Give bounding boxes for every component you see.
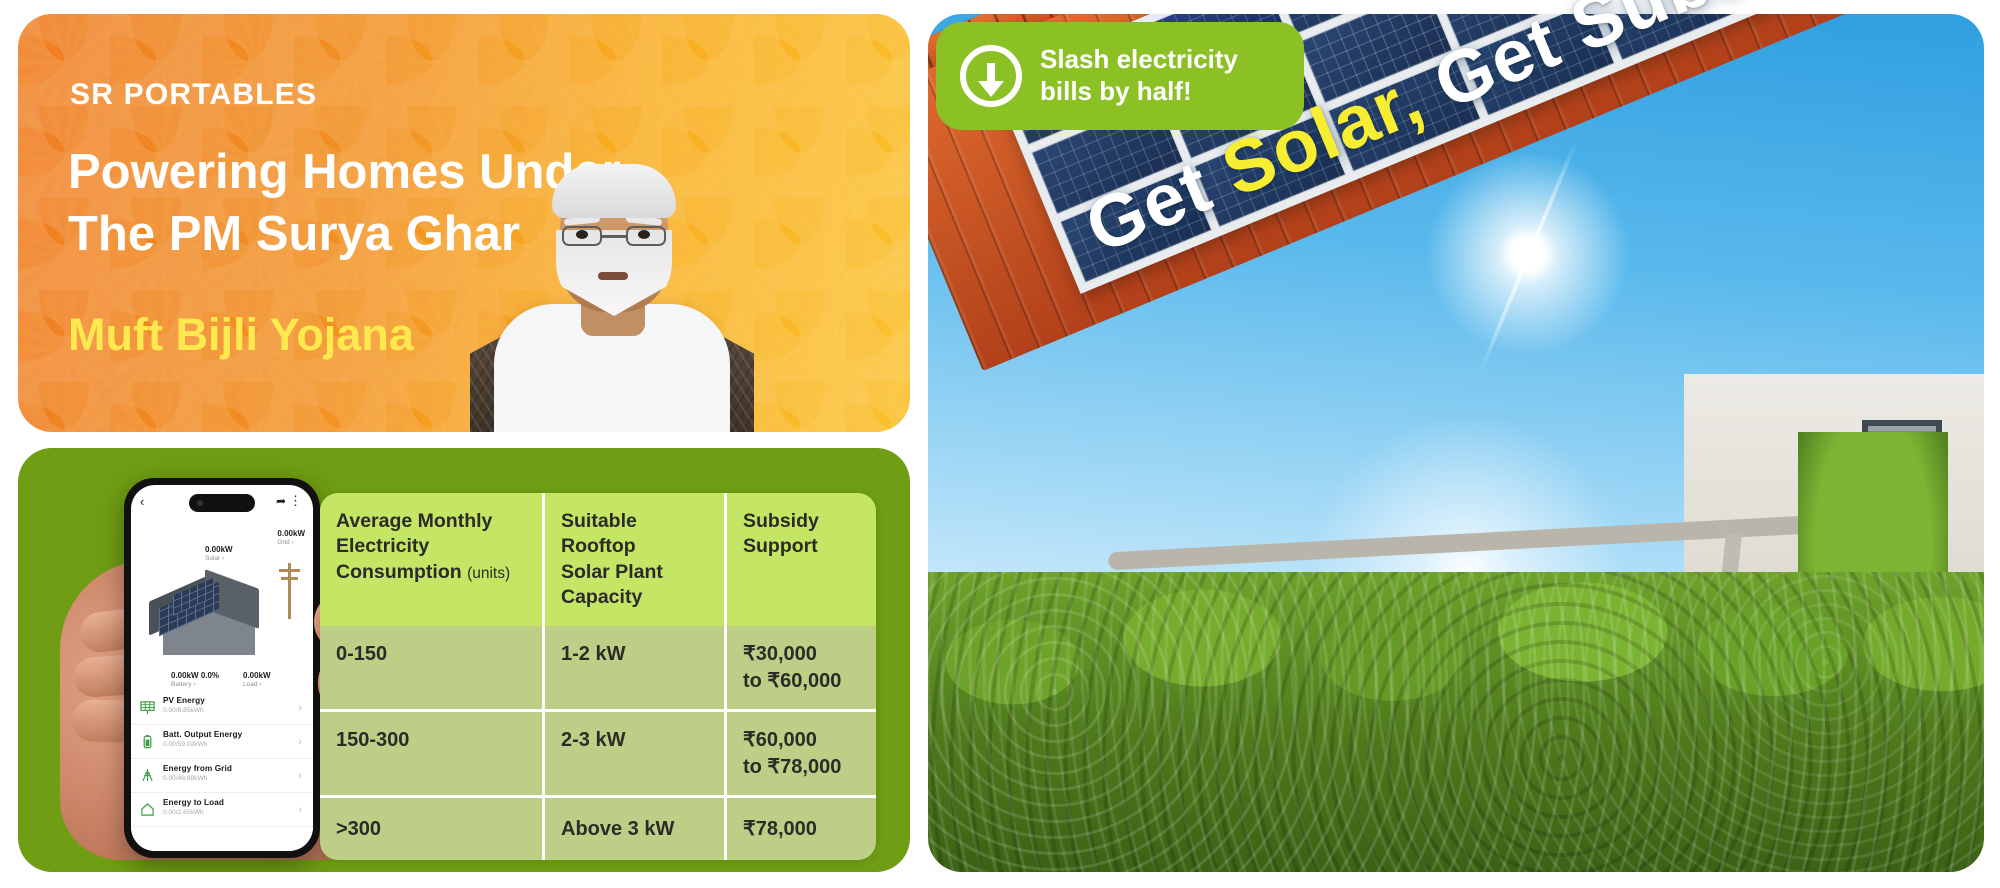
- list-item-title: Energy to Load: [163, 798, 293, 807]
- brand-name: SR PORTABLES: [70, 78, 317, 112]
- cell-subsidy: ₹78,000: [724, 798, 876, 860]
- home-icon: [140, 802, 155, 819]
- reading-grid-value: 0.00kW: [277, 529, 305, 538]
- utility-pole-icon: [288, 563, 291, 619]
- chevron-right-icon[interactable]: ›: [298, 736, 302, 748]
- portrait-glasses: [562, 226, 666, 246]
- list-item-value: 0.00/2.65kWh: [163, 809, 293, 816]
- badge-line2: bills by half!: [1040, 76, 1238, 108]
- reading-load-value: 0.00kW: [243, 671, 271, 680]
- table-row: 150-300 2-3 kW ₹60,000 to ₹78,000: [320, 709, 876, 795]
- cell-subsidy-line2: to ₹60,000: [743, 668, 860, 694]
- phone-screen: ‹ ➦ ⋮ 0.00kW: [131, 485, 313, 851]
- table-header-row: Average Monthly Electricity Consumption …: [320, 493, 876, 626]
- badge-line1: Slash electricity: [1040, 44, 1238, 76]
- list-item[interactable]: Energy from Grid 0.00/48.88kWh ›: [131, 759, 313, 793]
- grid-tower-icon: [140, 768, 155, 785]
- reading-load-label: Load ›: [243, 681, 271, 689]
- list-item[interactable]: PV Energy 0.00/8.85kWh ›: [131, 691, 313, 725]
- reading-battery-percent: 0.0%: [201, 671, 219, 680]
- list-item[interactable]: Batt. Output Energy 0.00/59.02kWh ›: [131, 725, 313, 759]
- table-header-subsidy: Subsidy Support: [724, 493, 876, 626]
- share-icon[interactable]: ➦: [276, 494, 286, 508]
- reading-solar-value: 0.00kW: [205, 545, 233, 554]
- list-item-value: 0.00/8.85kWh: [163, 707, 293, 714]
- cell-consumption: 150-300: [320, 712, 542, 795]
- table-row: 0-150 1-2 kW ₹30,000 to ₹60,000: [320, 626, 876, 709]
- portrait-mouth: [598, 272, 628, 280]
- cell-subsidy: ₹60,000 to ₹78,000: [724, 712, 876, 795]
- poster-canvas: SR PORTABLES Powering Homes Under The PM…: [0, 0, 2000, 888]
- reading-battery-value: 0.00kW: [171, 671, 199, 680]
- header-line: Average Monthly: [336, 509, 526, 534]
- solar-panel-icon: [140, 700, 155, 717]
- cell-subsidy-line1: ₹60,000: [743, 727, 860, 753]
- header-line: Solar Plant: [561, 560, 708, 585]
- reading-load: 0.00kW Load ›: [243, 671, 271, 689]
- reading-solar: 0.00kW Solar ›: [205, 545, 233, 563]
- back-icon[interactable]: ‹: [140, 494, 144, 509]
- reading-battery: 0.00kW 0.0% Battery ›: [171, 671, 219, 689]
- app-topbar: ‹ ➦ ⋮: [140, 493, 304, 513]
- list-item[interactable]: Energy to Load 0.00/2.65kWh ›: [131, 793, 313, 827]
- hero-orange-card: SR PORTABLES Powering Homes Under The PM…: [18, 14, 910, 432]
- chevron-right-icon[interactable]: ›: [298, 702, 302, 714]
- cell-subsidy: ₹30,000 to ₹60,000: [724, 626, 876, 709]
- reading-solar-label: Solar ›: [205, 555, 233, 563]
- cell-subsidy-line2: to ₹78,000: [743, 754, 860, 780]
- cell-consumption: 0-150: [320, 626, 542, 709]
- cell-capacity: 2-3 kW: [542, 712, 724, 795]
- phone-device: ‹ ➦ ⋮ 0.00kW: [124, 478, 320, 858]
- solar-house-photo: [928, 14, 1984, 872]
- reading-grid-label: Grid ›: [277, 539, 305, 547]
- reading-battery-label: Battery ›: [171, 681, 219, 689]
- header-line: Capacity: [561, 585, 708, 610]
- hero-subtitle: Muft Bijli Yojana: [68, 310, 414, 360]
- portrait-hair: [552, 164, 676, 218]
- cell-capacity: Above 3 kW: [542, 798, 724, 860]
- list-item-title: Batt. Output Energy: [163, 730, 293, 739]
- header-line: Support: [743, 534, 860, 559]
- battery-icon: [140, 734, 155, 751]
- list-item-title: Energy from Grid: [163, 764, 293, 773]
- more-menu-icon[interactable]: ⋮: [289, 493, 302, 509]
- header-line: Consumption (units): [336, 560, 526, 585]
- subsidy-table: Average Monthly Electricity Consumption …: [320, 493, 876, 860]
- cell-subsidy-line1: ₹30,000: [743, 641, 860, 667]
- house-3d-illustration: [147, 569, 263, 655]
- header-line: Suitable Rooftop: [561, 509, 708, 560]
- header-units: (units): [467, 565, 510, 582]
- table-body: 0-150 1-2 kW ₹30,000 to ₹60,000 150-300 …: [320, 626, 876, 860]
- slash-bills-badge: Slash electricity bills by half!: [936, 22, 1304, 130]
- table-row: >300 Above 3 kW ₹78,000: [320, 795, 876, 860]
- table-green-card: ‹ ➦ ⋮ 0.00kW: [18, 448, 910, 872]
- header-line: Electricity: [336, 534, 526, 559]
- hedge-foreground: [928, 572, 1984, 872]
- chevron-right-icon[interactable]: ›: [298, 804, 302, 816]
- header-line-text: Consumption: [336, 561, 462, 583]
- badge-text: Slash electricity bills by half!: [1040, 44, 1238, 107]
- header-line: Subsidy: [743, 509, 860, 534]
- list-item-value: 0.00/48.88kWh: [163, 775, 293, 782]
- download-circle-icon: [960, 45, 1022, 107]
- energy-flow-diagram: 0.00kW Solar › 0.00kW Grid › 0.00kW 0.0%…: [131, 519, 313, 685]
- chevron-right-icon[interactable]: ›: [298, 770, 302, 782]
- reading-grid: 0.00kW Grid ›: [277, 529, 305, 547]
- cell-capacity: 1-2 kW: [542, 626, 724, 709]
- table-header-consumption: Average Monthly Electricity Consumption …: [320, 493, 542, 626]
- cell-consumption: >300: [320, 798, 542, 860]
- list-item-title: PV Energy: [163, 696, 293, 705]
- list-item-value: 0.00/59.02kWh: [163, 741, 293, 748]
- energy-list: PV Energy 0.00/8.85kWh › Batt. Output En…: [131, 691, 313, 851]
- prime-minister-portrait: [452, 122, 772, 432]
- table-header-capacity: Suitable Rooftop Solar Plant Capacity: [542, 493, 724, 626]
